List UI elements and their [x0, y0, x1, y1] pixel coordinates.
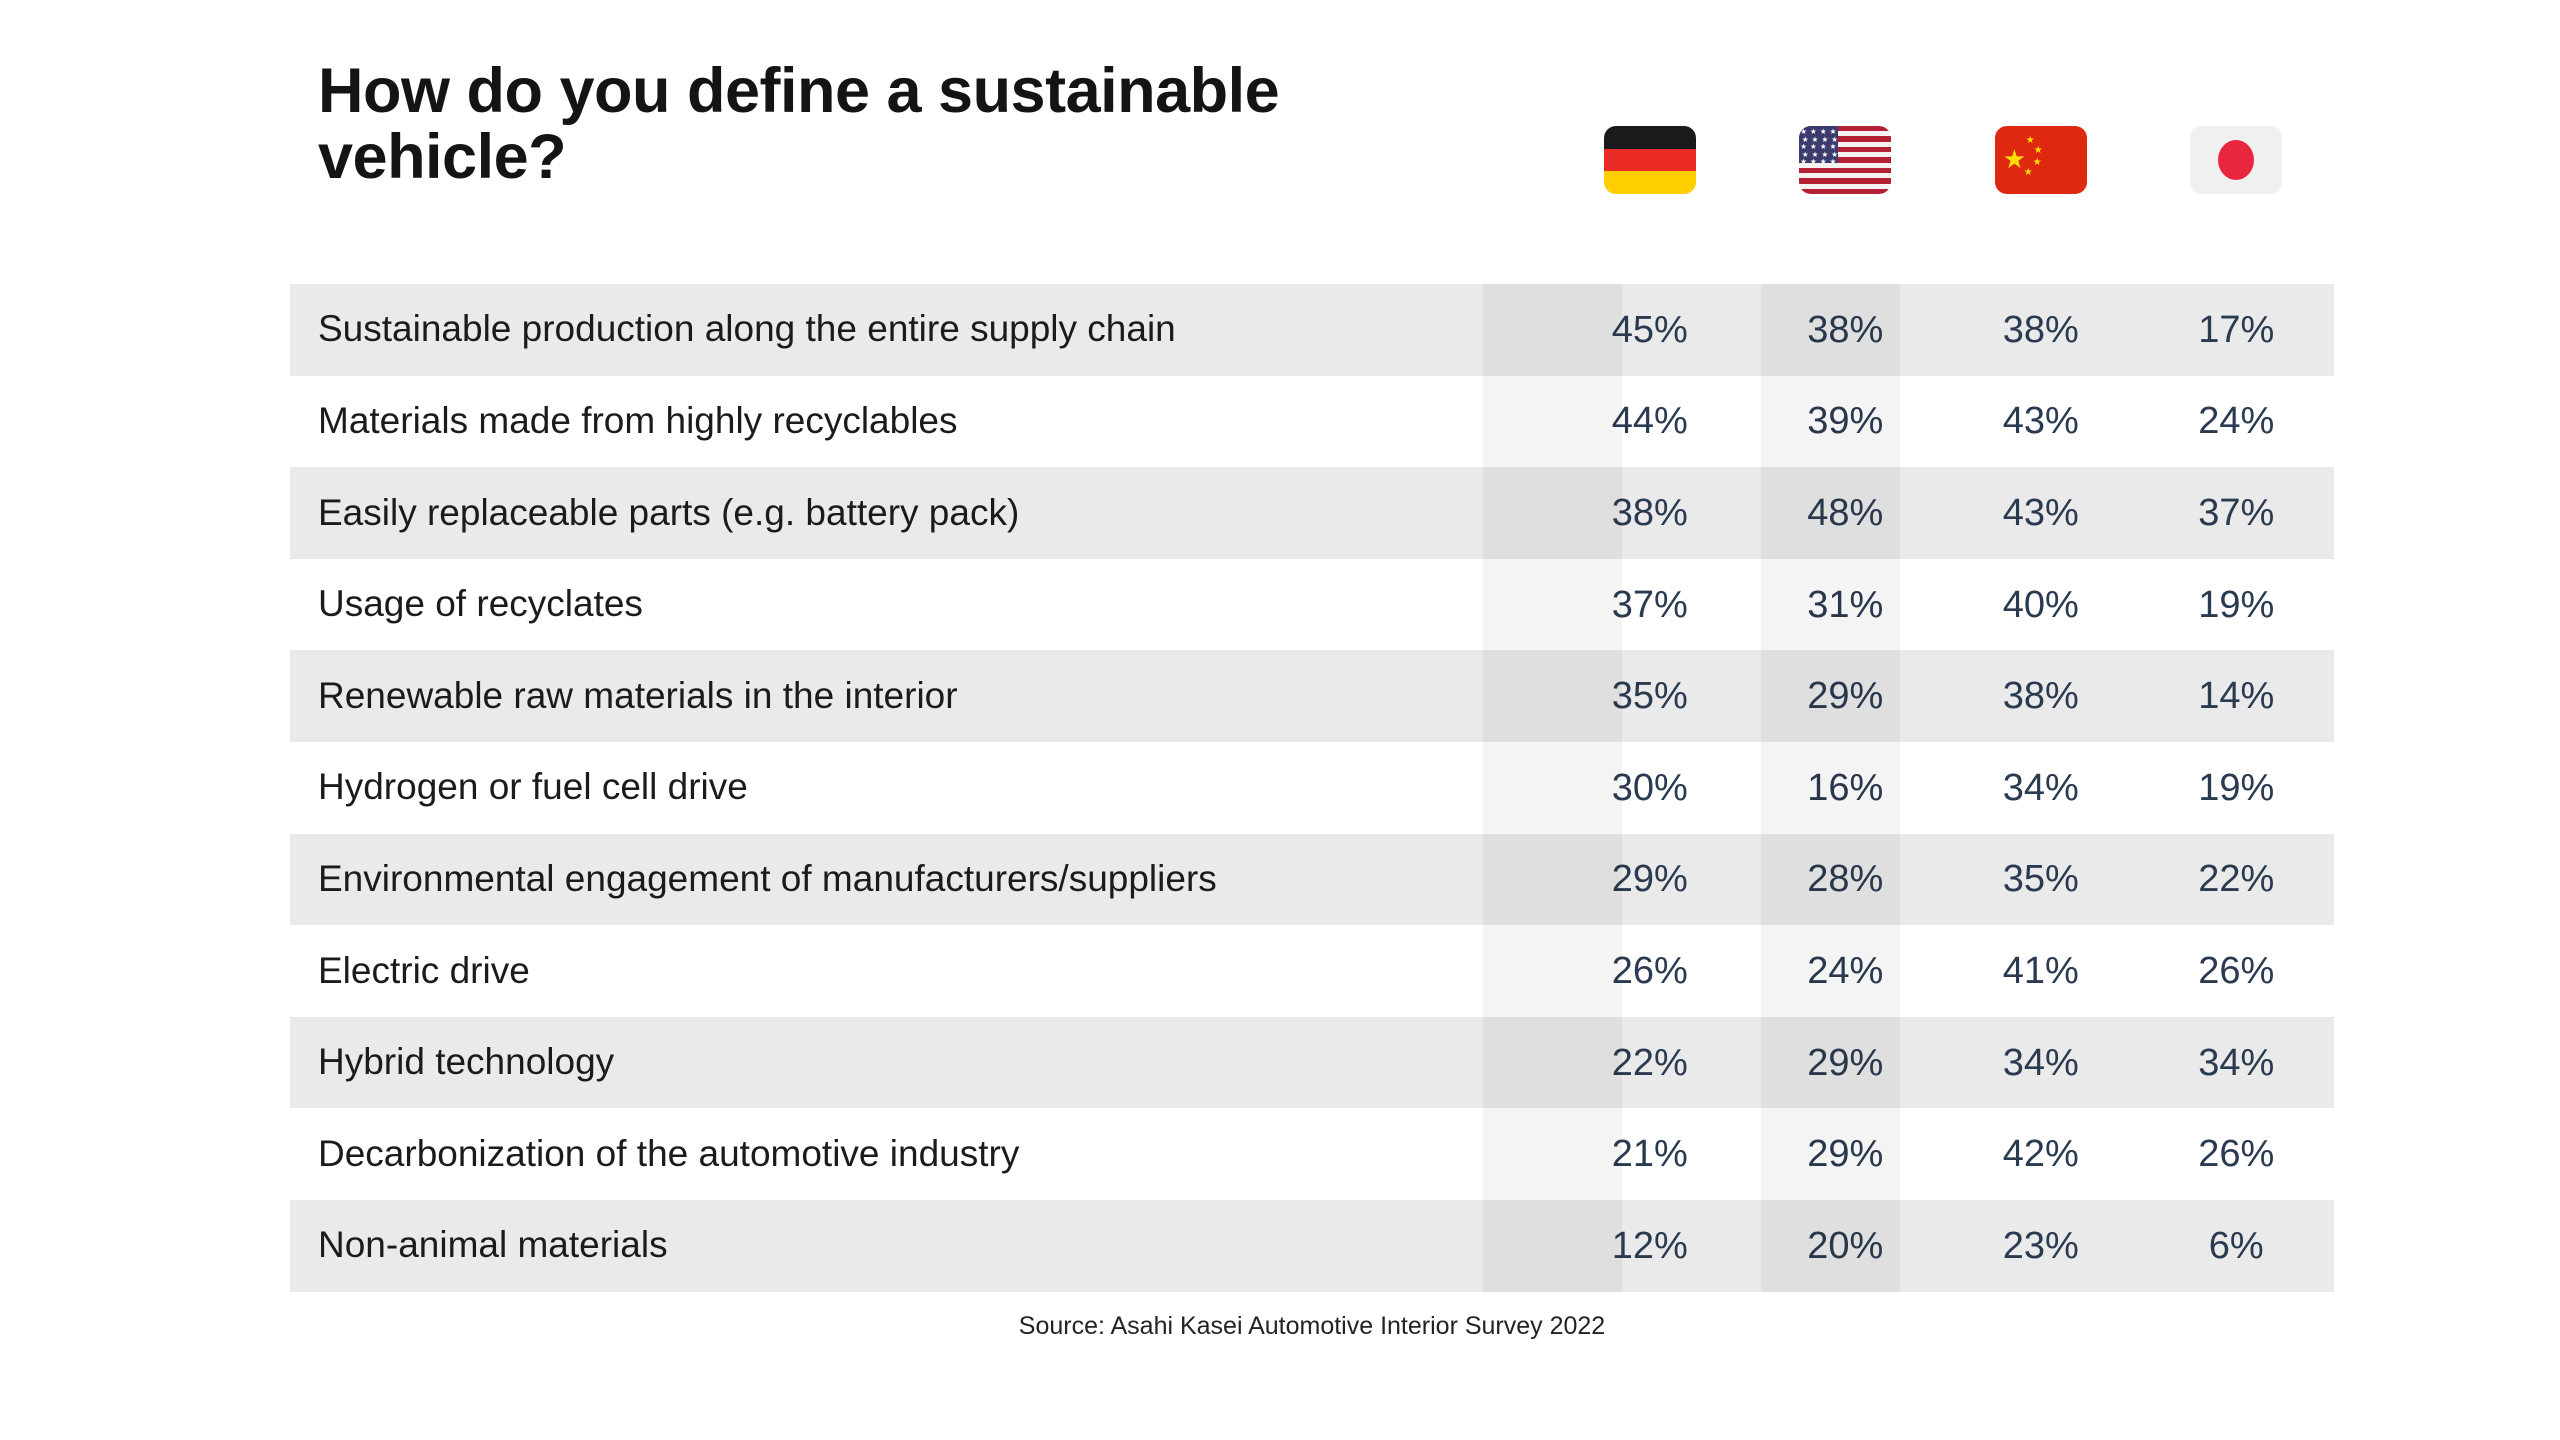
row-values: 30%16%34%19% [1552, 769, 2334, 807]
cell-china: 42% [1943, 1135, 2139, 1173]
country-flag-header: ★ ★ ★ ★ ★ ★ ★ ★ ★ ★ ★ ★ ★ ★ ★ ★ ★ ★ ★ ★ … [1552, 108, 2334, 212]
row-values: 37%31%40%19% [1552, 586, 2334, 624]
row-label: Environmental engagement of manufacturer… [290, 859, 1410, 900]
row-values: 35%29%38%14% [1552, 677, 2334, 715]
cell-china: 35% [1943, 860, 2139, 898]
flag-usa-icon: ★ ★ ★ ★ ★ ★ ★ ★ ★ ★ ★ ★ ★ ★ ★ ★ ★ ★ ★ ★ [1799, 126, 1891, 194]
cell-china: 38% [1943, 311, 2139, 349]
table-row: Decarbonization of the automotive indust… [290, 1108, 2334, 1200]
table-row: Environmental engagement of manufacturer… [290, 834, 2334, 926]
table-row: Electric drive26%24%41%26% [290, 925, 2334, 1017]
row-values: 29%28%35%22% [1552, 860, 2334, 898]
cell-germany: 37% [1552, 586, 1748, 624]
row-label: Decarbonization of the automotive indust… [290, 1134, 1410, 1175]
row-label: Sustainable production along the entire … [290, 309, 1410, 350]
cell-germany: 26% [1552, 952, 1748, 990]
page-title: How do you define a sustainable vehicle? [318, 58, 1508, 190]
cell-germany: 44% [1552, 402, 1748, 440]
row-label: Easily replaceable parts (e.g. battery p… [290, 493, 1410, 534]
cell-usa: 29% [1748, 677, 1944, 715]
flag-germany-icon [1604, 126, 1696, 194]
cell-germany: 45% [1552, 311, 1748, 349]
row-label: Hydrogen or fuel cell drive [290, 767, 1410, 808]
cell-usa: 31% [1748, 586, 1944, 624]
cell-japan: 19% [2139, 586, 2335, 624]
table-row: Hydrogen or fuel cell drive30%16%34%19% [290, 742, 2334, 834]
cell-china: 34% [1943, 1044, 2139, 1082]
cell-japan: 24% [2139, 402, 2335, 440]
cell-china: 38% [1943, 677, 2139, 715]
row-values: 44%39%43%24% [1552, 402, 2334, 440]
cell-china: 41% [1943, 952, 2139, 990]
cell-japan: 37% [2139, 494, 2335, 532]
row-values: 22%29%34%34% [1552, 1044, 2334, 1082]
row-label: Electric drive [290, 951, 1410, 992]
cell-germany: 38% [1552, 494, 1748, 532]
cell-germany: 30% [1552, 769, 1748, 807]
cell-usa: 20% [1748, 1227, 1944, 1265]
cell-usa: 29% [1748, 1135, 1944, 1173]
cell-usa: 16% [1748, 769, 1944, 807]
cell-japan: 34% [2139, 1044, 2335, 1082]
table-body: Sustainable production along the entire … [290, 284, 2334, 1292]
row-values: 26%24%41%26% [1552, 952, 2334, 990]
row-values: 12%20%23%6% [1552, 1227, 2334, 1265]
column-header-germany [1552, 108, 1748, 212]
header: How do you define a sustainable vehicle? [318, 58, 1518, 190]
table-row: Hybrid technology22%29%34%34% [290, 1017, 2334, 1109]
cell-germany: 35% [1552, 677, 1748, 715]
table-row: Easily replaceable parts (e.g. battery p… [290, 467, 2334, 559]
cell-germany: 12% [1552, 1227, 1748, 1265]
cell-japan: 26% [2139, 1135, 2335, 1173]
table-row: Materials made from highly recyclables44… [290, 376, 2334, 468]
cell-japan: 22% [2139, 860, 2335, 898]
row-label: Materials made from highly recyclables [290, 401, 1410, 442]
cell-japan: 14% [2139, 677, 2335, 715]
cell-china: 34% [1943, 769, 2139, 807]
column-header-usa: ★ ★ ★ ★ ★ ★ ★ ★ ★ ★ ★ ★ ★ ★ ★ ★ ★ ★ ★ ★ [1748, 108, 1944, 212]
cell-china: 23% [1943, 1227, 2139, 1265]
cell-usa: 38% [1748, 311, 1944, 349]
source-note: Source: Asahi Kasei Automotive Interior … [290, 1312, 2334, 1341]
row-label: Hybrid technology [290, 1042, 1410, 1083]
cell-usa: 39% [1748, 402, 1944, 440]
cell-germany: 21% [1552, 1135, 1748, 1173]
cell-japan: 6% [2139, 1227, 2335, 1265]
cell-germany: 29% [1552, 860, 1748, 898]
cell-germany: 22% [1552, 1044, 1748, 1082]
flag-china-icon: ★ ★ ★ ★ ★ [1995, 126, 2087, 194]
row-label: Usage of recyclates [290, 584, 1410, 625]
table-row: Non-animal materials12%20%23%6% [290, 1200, 2334, 1292]
cell-china: 43% [1943, 494, 2139, 532]
cell-usa: 48% [1748, 494, 1944, 532]
cell-china: 43% [1943, 402, 2139, 440]
column-header-japan [2139, 108, 2335, 212]
row-values: 45%38%38%17% [1552, 311, 2334, 349]
cell-usa: 28% [1748, 860, 1944, 898]
cell-usa: 29% [1748, 1044, 1944, 1082]
row-values: 21%29%42%26% [1552, 1135, 2334, 1173]
row-values: 38%48%43%37% [1552, 494, 2334, 532]
row-label: Non-animal materials [290, 1225, 1410, 1266]
cell-japan: 19% [2139, 769, 2335, 807]
flag-japan-icon [2190, 126, 2282, 194]
column-header-china: ★ ★ ★ ★ ★ [1943, 108, 2139, 212]
results-table: Sustainable production along the entire … [290, 284, 2334, 1292]
infographic-page: How do you define a sustainable vehicle?… [0, 0, 2560, 1440]
cell-usa: 24% [1748, 952, 1944, 990]
cell-china: 40% [1943, 586, 2139, 624]
row-label: Renewable raw materials in the interior [290, 676, 1410, 717]
table-row: Sustainable production along the entire … [290, 284, 2334, 376]
table-row: Usage of recyclates37%31%40%19% [290, 559, 2334, 651]
cell-japan: 26% [2139, 952, 2335, 990]
table-row: Renewable raw materials in the interior3… [290, 650, 2334, 742]
cell-japan: 17% [2139, 311, 2335, 349]
